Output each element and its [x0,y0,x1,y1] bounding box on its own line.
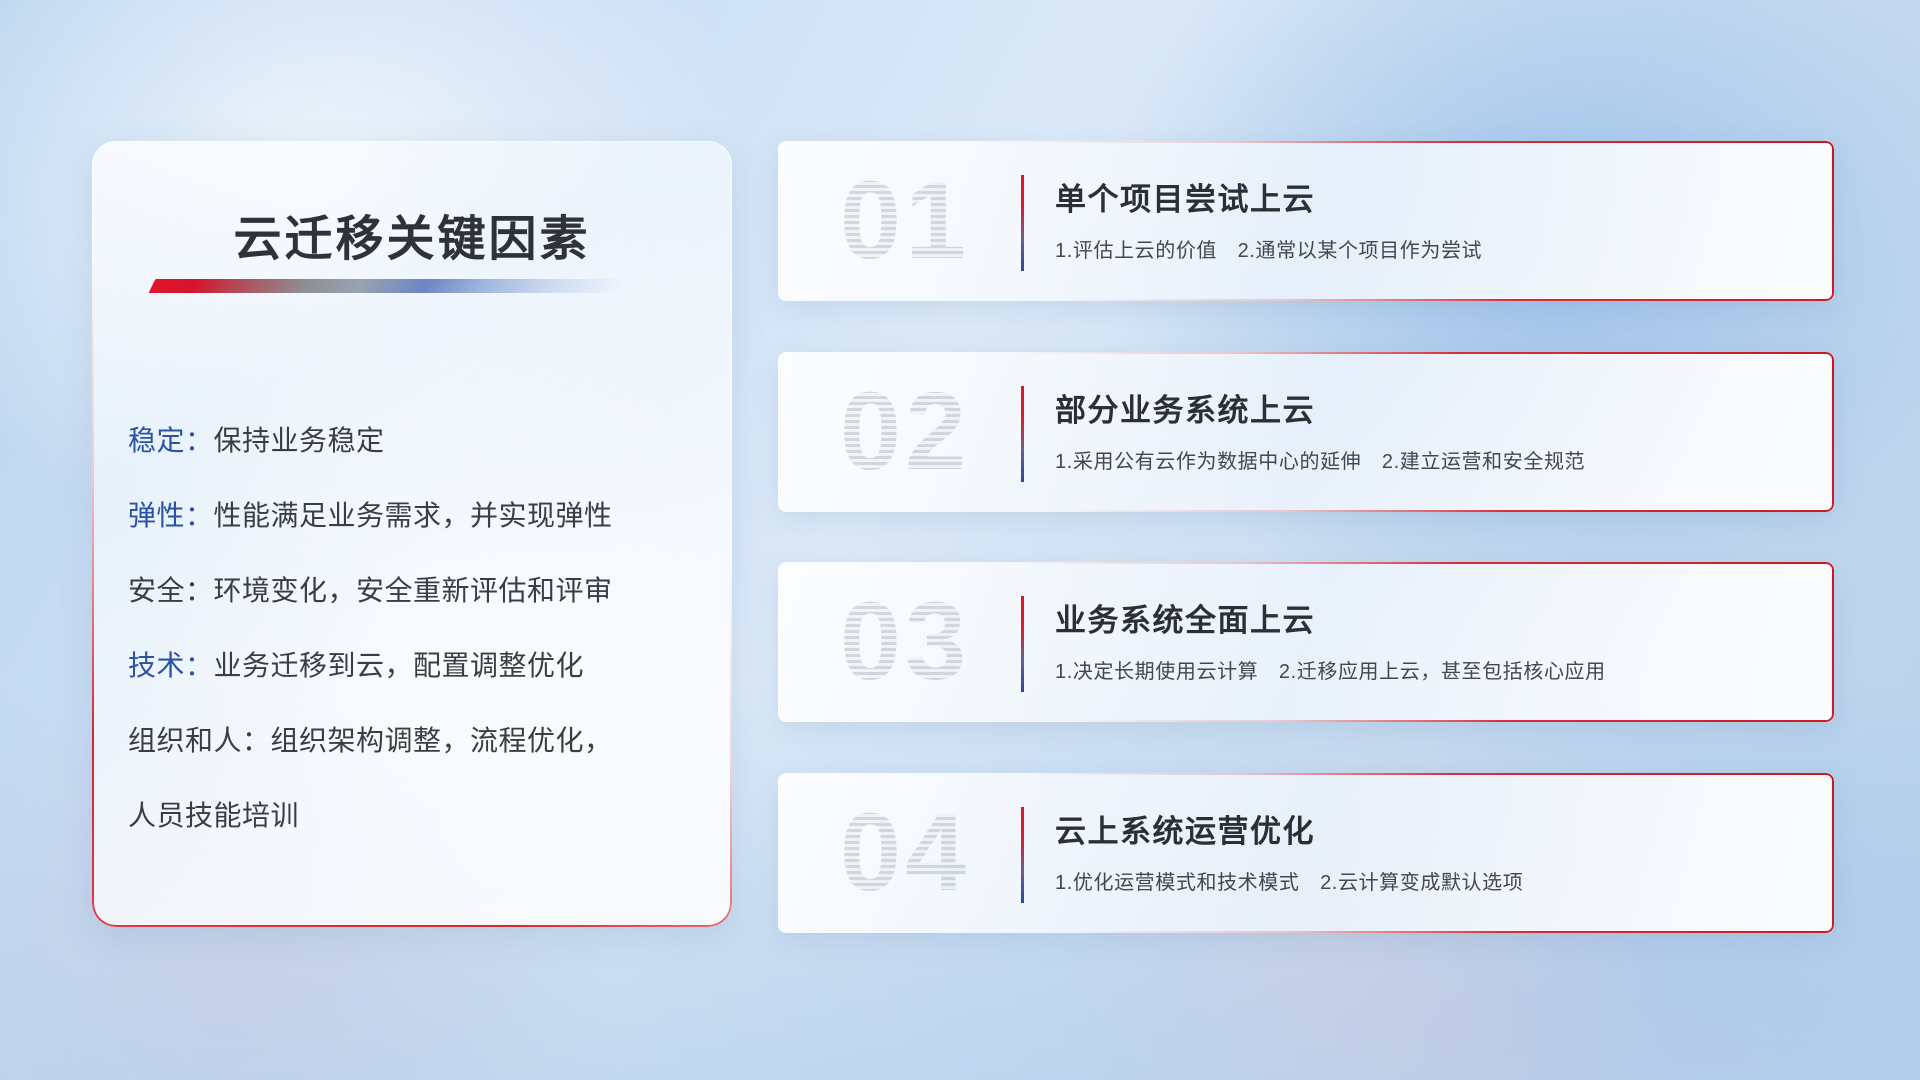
key-factor-label: 技术： [128,650,214,681]
key-factor-label: 弹性： [128,500,214,531]
key-factor-label: 稳定： [128,425,214,456]
key-factor-item: 组织和人：组织架构调整，流程优化， [128,703,702,778]
key-factor-label: 安全： [128,575,214,606]
stage-description: 1.评估上云的价值 2.通常以某个项目作为尝试 [1055,234,1482,263]
stage-title: 云上系统运营优化 [1055,806,1315,851]
stage-description: 1.决定长期使用云计算 2.迁移应用上云，甚至包括核心应用 [1055,655,1606,684]
key-factor-text: 业务迁移到云，配置调整优化 [214,650,585,681]
stage-title: 部分业务系统上云 [1055,385,1315,430]
stage-number-watermark: 01 [810,155,1000,287]
key-factor-text: 保持业务稳定 [214,425,385,456]
key-factor-item: 安全：环境变化，安全重新评估和评审 [128,553,702,628]
key-factor-item: 技术：业务迁移到云，配置调整优化 [128,628,702,703]
key-factor-text: 组织架构调整，流程优化， [271,725,613,756]
key-factor-item: 人员技能培训 [128,778,702,853]
key-factors-panel: 云迁移关键因素 稳定：保持业务稳定弹性：性能满足业务需求，并实现弹性安全：环境变… [92,141,732,927]
page-title: 云迁移关键因素 [92,199,732,269]
stage-divider-accent [1021,386,1024,482]
key-factor-label: 组织和人： [128,725,271,756]
stage-divider-accent [1021,596,1024,692]
stage-number-watermark: 04 [810,787,1000,919]
stage-card[interactable]: 01单个项目尝试上云1.评估上云的价值 2.通常以某个项目作为尝试 [778,141,1834,301]
key-factors-list: 稳定：保持业务稳定弹性：性能满足业务需求，并实现弹性安全：环境变化，安全重新评估… [128,403,702,853]
key-factor-item: 稳定：保持业务稳定 [128,403,702,478]
key-factor-item: 弹性：性能满足业务需求，并实现弹性 [128,478,702,553]
title-underline-accent [149,279,626,293]
key-factor-text: 环境变化，安全重新评估和评审 [214,575,613,606]
stage-title: 业务系统全面上云 [1055,595,1315,640]
stage-card[interactable]: 02部分业务系统上云1.采用公有云作为数据中心的延伸 2.建立运营和安全规范 [778,352,1834,512]
stage-card[interactable]: 03业务系统全面上云1.决定长期使用云计算 2.迁移应用上云，甚至包括核心应用 [778,562,1834,722]
stage-title: 单个项目尝试上云 [1055,174,1315,219]
key-factor-text: 性能满足业务需求，并实现弹性 [214,500,613,531]
stage-number-watermark: 02 [810,366,1000,498]
stage-description: 1.优化运营模式和技术模式 2.云计算变成默认选项 [1055,866,1523,895]
stage-number-watermark: 03 [810,576,1000,708]
stage-card[interactable]: 04云上系统运营优化1.优化运营模式和技术模式 2.云计算变成默认选项 [778,773,1834,933]
stage-description: 1.采用公有云作为数据中心的延伸 2.建立运营和安全规范 [1055,445,1585,474]
key-factor-text: 人员技能培训 [128,800,299,831]
stage-divider-accent [1021,807,1024,903]
stage-divider-accent [1021,175,1024,271]
